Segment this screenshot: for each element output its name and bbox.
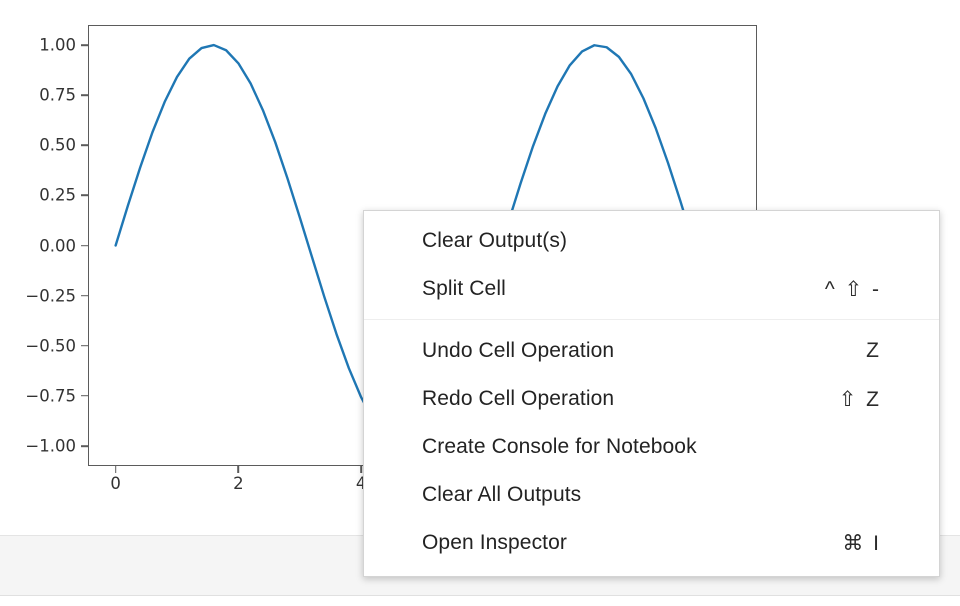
y-axis-tick-mark <box>81 445 88 447</box>
y-axis-tick-labels: 1.000.750.500.250.00−0.25−0.50−0.75−1.00 <box>0 0 76 520</box>
y-axis-tick-mark <box>81 195 88 197</box>
y-axis-tick-label: 0.00 <box>39 236 76 255</box>
menu-item-split-cell[interactable]: Split Cell^ ⇧ - <box>364 265 939 313</box>
menu-item-shortcut: ⇧ Z <box>839 387 881 412</box>
menu-item-label: Redo Cell Operation <box>422 387 614 411</box>
y-axis-tick-label: 0.25 <box>39 186 76 205</box>
cell-context-menu[interactable]: Clear Output(s)Split Cell^ ⇧ -Undo Cell … <box>363 210 940 577</box>
y-axis-tick-label: 0.75 <box>39 86 76 105</box>
y-axis-tick-label: 0.50 <box>39 136 76 155</box>
menu-item-label: Open Inspector <box>422 531 567 555</box>
menu-item-label: Undo Cell Operation <box>422 339 614 363</box>
y-axis-tick-label: −0.75 <box>25 386 76 405</box>
y-axis-tick-label: −0.25 <box>25 286 76 305</box>
y-axis-tick-mark <box>81 395 88 397</box>
y-axis-tick-mark <box>81 144 88 146</box>
y-axis-tick-mark <box>81 245 88 247</box>
menu-item-create-console-for-notebook[interactable]: Create Console for Notebook <box>364 423 939 471</box>
x-axis-tick-label: 2 <box>233 474 244 493</box>
y-axis-tick-mark <box>81 94 88 96</box>
y-axis-tick-label: 1.00 <box>39 36 76 55</box>
x-axis-tick-mark <box>360 466 362 473</box>
menu-item-clear-output-s[interactable]: Clear Output(s) <box>364 217 939 265</box>
menu-item-shortcut: ⌘ I <box>842 531 881 556</box>
y-axis-tick-label: −0.50 <box>25 336 76 355</box>
y-axis-tick-mark <box>81 295 88 297</box>
menu-item-label: Create Console for Notebook <box>422 435 697 459</box>
menu-item-label: Clear Output(s) <box>422 229 567 253</box>
y-axis-tick-mark <box>81 345 88 347</box>
y-axis-tick-mark <box>81 44 88 46</box>
x-axis-tick-label: 0 <box>110 474 121 493</box>
menu-item-clear-all-outputs[interactable]: Clear All Outputs <box>364 471 939 519</box>
menu-item-redo-cell-operation[interactable]: Redo Cell Operation⇧ Z <box>364 375 939 423</box>
menu-group: Undo Cell OperationZRedo Cell Operation⇧… <box>364 319 939 567</box>
menu-item-undo-cell-operation[interactable]: Undo Cell OperationZ <box>364 327 939 375</box>
x-axis-tick-mark <box>238 466 240 473</box>
menu-item-open-inspector[interactable]: Open Inspector⌘ I <box>364 519 939 567</box>
menu-item-shortcut: ^ ⇧ - <box>825 277 881 302</box>
x-axis-tick-mark <box>115 466 117 473</box>
menu-item-label: Split Cell <box>422 277 506 301</box>
y-axis-tick-label: −1.00 <box>25 436 76 455</box>
menu-item-label: Clear All Outputs <box>422 483 581 507</box>
menu-group: Clear Output(s)Split Cell^ ⇧ - <box>364 217 939 313</box>
page-bottom-strip <box>0 596 960 606</box>
menu-item-shortcut: Z <box>866 339 881 363</box>
